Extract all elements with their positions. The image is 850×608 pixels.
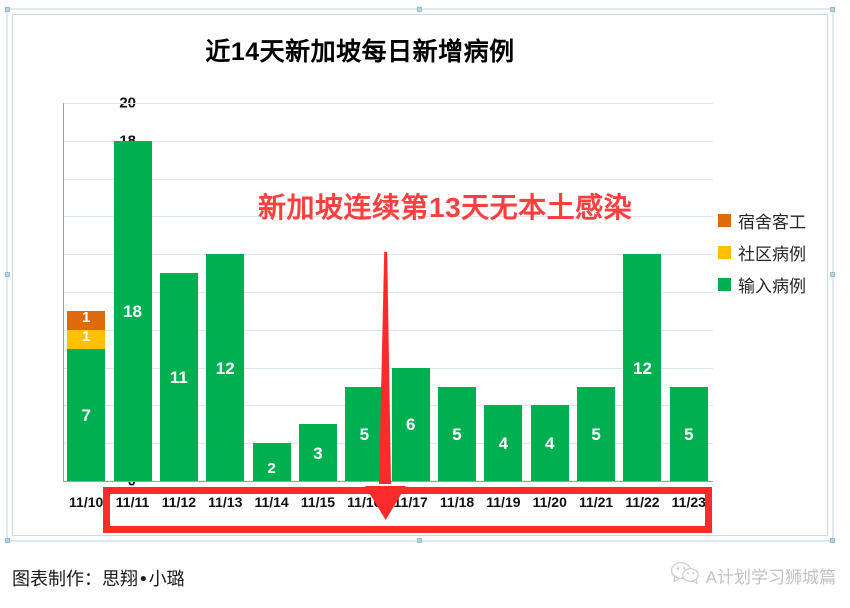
- gridline: [64, 179, 713, 180]
- bar-column[interactable]: 2: [253, 443, 291, 481]
- bar-segment[interactable]: 2: [253, 443, 291, 481]
- resize-handle-middle-left[interactable]: [5, 272, 10, 277]
- bar-value-label: 1: [67, 328, 105, 345]
- resize-handle-bottom-left[interactable]: [5, 538, 10, 543]
- bar-segment[interactable]: 12: [623, 254, 661, 481]
- no-local-transmission-note: 新加坡连续第13天无本土感染: [258, 186, 632, 226]
- bar-column[interactable]: 5: [670, 387, 708, 482]
- footer-credit: 图表制作：思翔•小璐: [12, 565, 185, 591]
- bar-segment[interactable]: 5: [438, 387, 476, 482]
- legend-color-swatch: [718, 214, 731, 227]
- resize-handle-bottom-right[interactable]: [830, 538, 835, 543]
- legend-item-label: 社区病例: [738, 240, 806, 265]
- legend-item-label: 输入病例: [738, 272, 806, 297]
- bar-segment[interactable]: 1: [67, 330, 105, 349]
- resize-handle-top-center[interactable]: [417, 7, 422, 12]
- bar-column[interactable]: 12: [206, 254, 244, 481]
- bar-value-label: 11: [160, 368, 198, 388]
- bar-segment[interactable]: 3: [299, 424, 337, 481]
- wechat-icon: [670, 562, 706, 589]
- legend-item[interactable]: 输入病例: [718, 268, 838, 300]
- bar-segment[interactable]: 4: [484, 405, 522, 481]
- chart-title: 近14天新加坡每日新增病例: [0, 32, 720, 68]
- bar-value-label: 2: [253, 460, 291, 477]
- bar-value-label: 3: [299, 444, 337, 464]
- resize-handle-bottom-center[interactable]: [417, 538, 422, 543]
- bar-column[interactable]: 18: [114, 141, 152, 481]
- bar-column[interactable]: 11: [160, 273, 198, 481]
- bar-column[interactable]: 12: [623, 254, 661, 481]
- watermark: A计划学习狮城篇: [670, 562, 836, 589]
- chart-legend: 宿舍客工社区病例输入病例: [718, 204, 838, 300]
- bar-column[interactable]: 3: [299, 424, 337, 481]
- legend-item[interactable]: 社区病例: [718, 236, 838, 268]
- legend-item-label: 宿舍客工: [738, 208, 806, 233]
- bar-value-label: 5: [577, 425, 615, 445]
- bar-segment[interactable]: 12: [206, 254, 244, 481]
- bar-value-label: 12: [206, 359, 244, 379]
- bar-value-label: 4: [484, 434, 522, 454]
- bar-segment[interactable]: 4: [531, 405, 569, 481]
- bar-value-label: 5: [438, 425, 476, 445]
- bar-column[interactable]: 5: [577, 387, 615, 482]
- bar-column[interactable]: 117: [67, 311, 105, 481]
- down-arrow-marker: [355, 252, 415, 522]
- watermark-label: A计划学习狮城篇: [706, 563, 836, 588]
- resize-handle-top-left[interactable]: [5, 7, 10, 12]
- resize-handle-top-right[interactable]: [830, 7, 835, 12]
- legend-item[interactable]: 宿舍客工: [718, 204, 838, 236]
- bar-segment[interactable]: 5: [577, 387, 615, 482]
- bar-value-label: 1: [67, 309, 105, 326]
- gridline: [64, 141, 713, 142]
- bar-column[interactable]: 4: [484, 405, 522, 481]
- legend-color-swatch: [718, 278, 731, 291]
- bar-segment[interactable]: 11: [160, 273, 198, 481]
- bar-value-label: 12: [623, 359, 661, 379]
- bar-segment[interactable]: 5: [670, 387, 708, 482]
- bar-segment[interactable]: 18: [114, 141, 152, 481]
- bar-value-label: 7: [67, 406, 105, 426]
- bar-value-label: 18: [114, 302, 152, 322]
- bar-segment[interactable]: 7: [67, 349, 105, 481]
- bar-column[interactable]: 5: [438, 387, 476, 482]
- bar-column[interactable]: 4: [531, 405, 569, 481]
- bar-value-label: 4: [531, 434, 569, 454]
- bar-value-label: 5: [670, 425, 708, 445]
- legend-color-swatch: [718, 246, 731, 259]
